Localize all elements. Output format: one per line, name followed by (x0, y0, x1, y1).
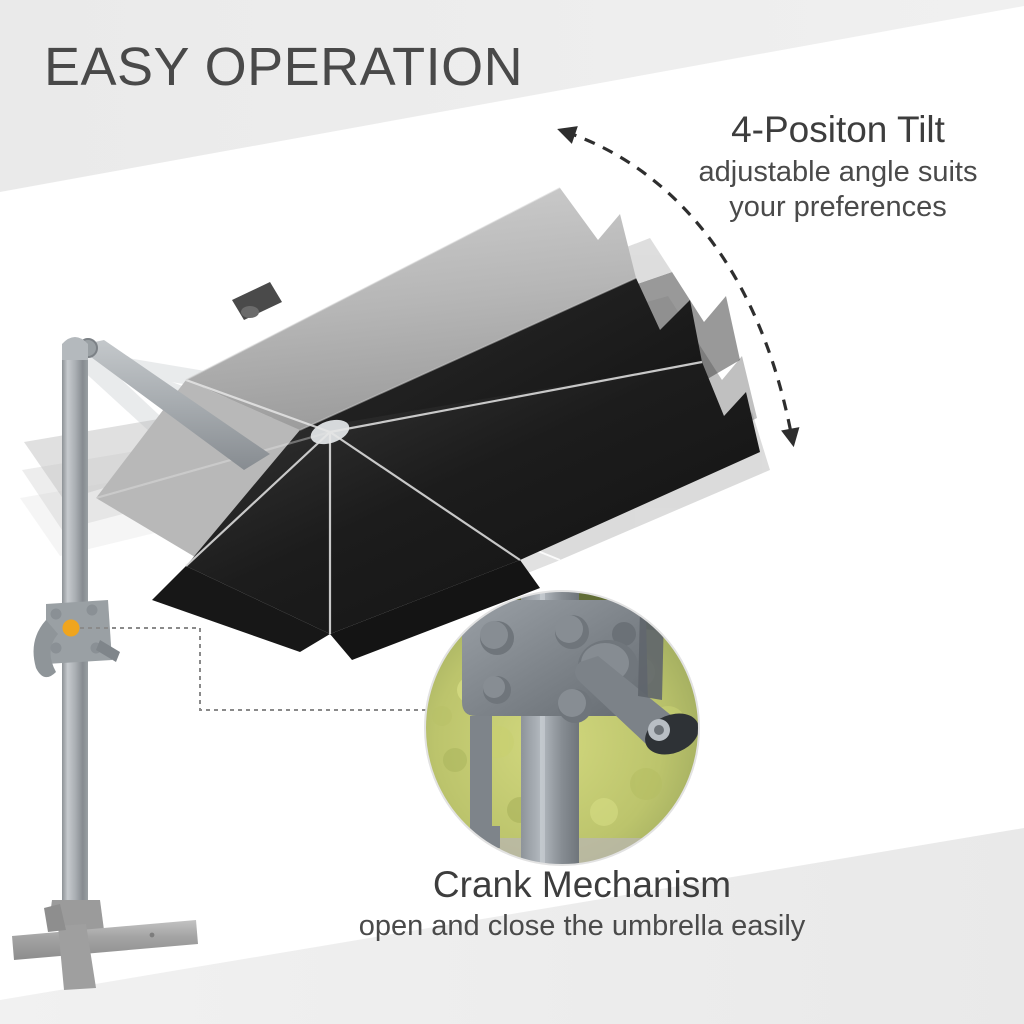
crank-marker-dot (63, 620, 80, 637)
crank-callout-title: Crank Mechanism (232, 862, 932, 907)
tilt-callout: 4-Positon Tilt adjustable angle suits yo… (660, 108, 1016, 225)
crank-callout: Crank Mechanism open and close the umbre… (232, 862, 932, 944)
crank-callout-subtitle: open and close the umbrella easily (232, 908, 932, 944)
page-headline: EASY OPERATION (44, 38, 523, 96)
tilt-callout-subtitle: adjustable angle suits your preferences (660, 155, 1016, 225)
infographic-canvas: EASY OPERATION 4-Positon Tilt adjustable… (0, 0, 1024, 1024)
tilt-callout-title: 4-Positon Tilt (660, 108, 1016, 152)
tilt-subtitle-line-2: your preferences (660, 190, 1016, 225)
tilt-subtitle-line-1: adjustable angle suits (660, 155, 1016, 190)
